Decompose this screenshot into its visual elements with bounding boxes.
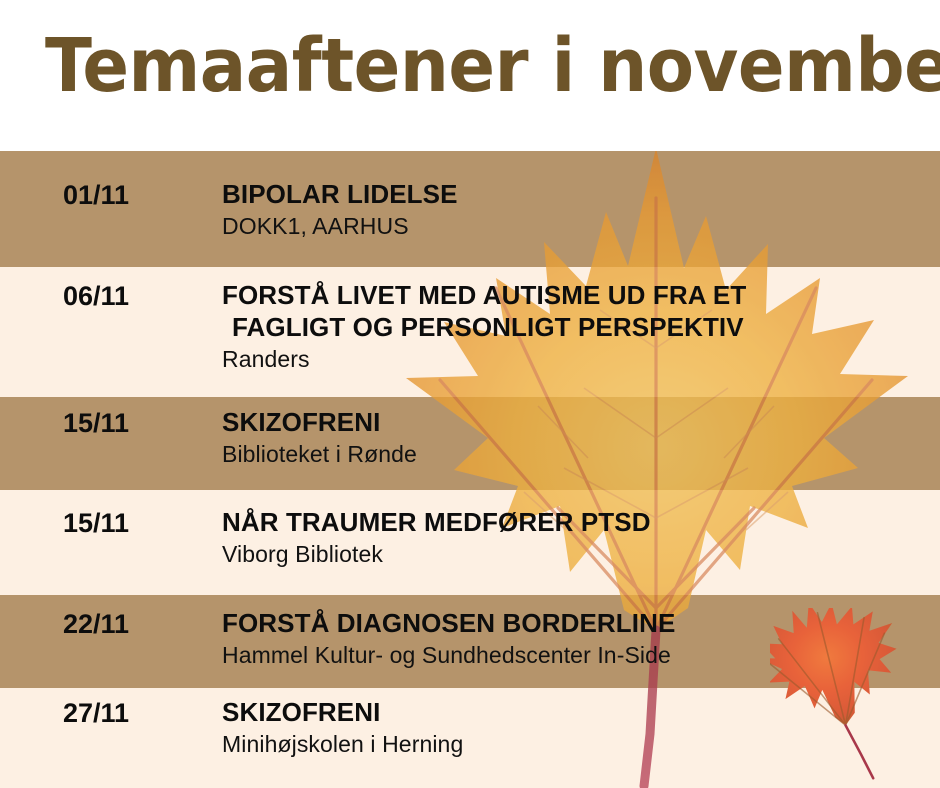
event-body: FORSTÅ LIVET MED AUTISME UD FRA ETFAGLIG… (222, 279, 930, 374)
event-date: 01/11 (63, 180, 129, 211)
event-date: 06/11 (63, 281, 129, 312)
event-title: NÅR TRAUMER MEDFØRER PTSD (222, 506, 930, 538)
event-venue: Biblioteket i Rønde (222, 440, 930, 469)
page-title: Temaaftener i november (45, 22, 940, 110)
event-title: FORSTÅ LIVET MED AUTISME UD FRA ETFAGLIG… (222, 279, 930, 343)
event-title: FORSTÅ DIAGNOSEN BORDERLINE (222, 607, 930, 639)
poster-canvas: Temaaftener i november 01/11BIPOLAR LIDE… (0, 0, 940, 788)
event-title-line: FORSTÅ DIAGNOSEN BORDERLINE (222, 607, 930, 639)
event-date: 15/11 (63, 508, 129, 539)
event-body: NÅR TRAUMER MEDFØRER PTSDViborg Bibliote… (222, 506, 930, 569)
event-body: SKIZOFRENIMinihøjskolen i Herning (222, 696, 930, 759)
event-date: 22/11 (63, 609, 129, 640)
event-title-line: SKIZOFRENI (222, 406, 930, 438)
event-venue: Viborg Bibliotek (222, 540, 930, 569)
event-title-line: BIPOLAR LIDELSE (222, 178, 930, 210)
poster-header: Temaaftener i november (0, 0, 940, 151)
event-body: FORSTÅ DIAGNOSEN BORDERLINEHammel Kultur… (222, 607, 930, 670)
event-body: SKIZOFRENIBiblioteket i Rønde (222, 406, 930, 469)
event-title: BIPOLAR LIDELSE (222, 178, 930, 210)
event-title-line: FORSTÅ LIVET MED AUTISME UD FRA ET (222, 279, 930, 311)
event-body: BIPOLAR LIDELSEDOKK1, AARHUS (222, 178, 930, 241)
event-venue: Minihøjskolen i Herning (222, 730, 930, 759)
event-date: 15/11 (63, 408, 129, 439)
event-title-line: FAGLIGT OG PERSONLIGT PERSPEKTIV (222, 311, 930, 343)
event-title-line: SKIZOFRENI (222, 696, 930, 728)
event-title: SKIZOFRENI (222, 406, 930, 438)
event-title: SKIZOFRENI (222, 696, 930, 728)
event-venue: Hammel Kultur- og Sundhedscenter In-Side (222, 641, 930, 670)
event-venue: DOKK1, AARHUS (222, 212, 930, 241)
event-date: 27/11 (63, 698, 129, 729)
event-title-line: NÅR TRAUMER MEDFØRER PTSD (222, 506, 930, 538)
event-venue: Randers (222, 345, 930, 374)
